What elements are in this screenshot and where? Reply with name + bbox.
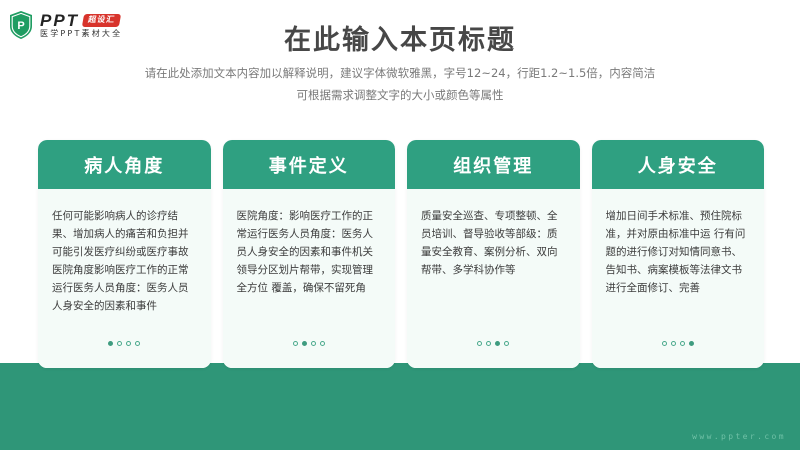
subtitle-line-1: 请在此处添加文本内容加以解释说明，建议字体微软雅黑，字号12~24，行距1.2~… [0, 62, 800, 84]
card-1-text: 任何可能影响病人的诊疗结果、增加病人的痛苦和负担并可能引发医疗纠纷或医疗事故医院… [52, 207, 197, 315]
card-4-text: 增加日间手术标准、预住院标准，并对原由标准中运 行有问题的进行修订对知情同意书、… [606, 207, 751, 297]
card-1-header: 病人角度 [38, 140, 211, 189]
card-3-header: 组织管理 [407, 140, 580, 189]
card-4-dots [592, 341, 765, 346]
card-3-dots [407, 341, 580, 346]
dot-indicator[interactable] [680, 341, 685, 346]
dot-indicator[interactable] [504, 341, 509, 346]
footer-green-band: www.ppter.com [0, 363, 800, 450]
dot-indicator[interactable] [689, 341, 694, 346]
card-4-title: 人身安全 [638, 152, 718, 178]
card-1[interactable]: 病人角度 任何可能影响病人的诊疗结果、增加病人的痛苦和负担并可能引发医疗纠纷或医… [38, 140, 211, 368]
card-2-header: 事件定义 [223, 140, 396, 189]
card-list: 病人角度 任何可能影响病人的诊疗结果、增加病人的痛苦和负担并可能引发医疗纠纷或医… [38, 140, 764, 368]
card-2-dots [223, 341, 396, 346]
dot-indicator[interactable] [108, 341, 113, 346]
card-4-body: 增加日间手术标准、预住院标准，并对原由标准中运 行有问题的进行修订对知情同意书、… [592, 189, 765, 368]
dot-indicator[interactable] [126, 341, 131, 346]
watermark-text: www.ppter.com [692, 432, 786, 441]
card-4-header: 人身安全 [592, 140, 765, 189]
dot-indicator[interactable] [662, 341, 667, 346]
card-2-title: 事件定义 [269, 152, 349, 178]
card-1-dots [38, 341, 211, 346]
page-subtitle: 请在此处添加文本内容加以解释说明，建议字体微软雅黑，字号12~24，行距1.2~… [0, 62, 800, 106]
dot-indicator[interactable] [302, 341, 307, 346]
card-4[interactable]: 人身安全 增加日间手术标准、预住院标准，并对原由标准中运 行有问题的进行修订对知… [592, 140, 765, 368]
dot-indicator[interactable] [320, 341, 325, 346]
card-2-body: 医院角度：影响医疗工作的正常运行医务人员角度：医务人员人身安全的因素和事件机关领… [223, 189, 396, 368]
dot-indicator[interactable] [311, 341, 316, 346]
card-2[interactable]: 事件定义 医院角度：影响医疗工作的正常运行医务人员角度：医务人员人身安全的因素和… [223, 140, 396, 368]
card-3-body: 质量安全巡查、专项整顿、全员培训、督导验收等部级：质量安全教育、案例分析、双向帮… [407, 189, 580, 368]
card-3-title: 组织管理 [453, 152, 533, 178]
card-3[interactable]: 组织管理 质量安全巡查、专项整顿、全员培训、督导验收等部级：质量安全教育、案例分… [407, 140, 580, 368]
page-title: 在此输入本页标题 [0, 18, 800, 57]
card-3-text: 质量安全巡查、专项整顿、全员培训、督导验收等部级：质量安全教育、案例分析、双向帮… [421, 207, 566, 279]
dot-indicator[interactable] [495, 341, 500, 346]
dot-indicator[interactable] [486, 341, 491, 346]
card-1-body: 任何可能影响病人的诊疗结果、增加病人的痛苦和负担并可能引发医疗纠纷或医疗事故医院… [38, 189, 211, 368]
subtitle-line-2: 可根据需求调整文字的大小或颜色等属性 [0, 84, 800, 106]
card-2-text: 医院角度：影响医疗工作的正常运行医务人员角度：医务人员人身安全的因素和事件机关领… [237, 207, 382, 297]
dot-indicator[interactable] [477, 341, 482, 346]
dot-indicator[interactable] [117, 341, 122, 346]
card-1-title: 病人角度 [84, 152, 164, 178]
dot-indicator[interactable] [293, 341, 298, 346]
dot-indicator[interactable] [135, 341, 140, 346]
dot-indicator[interactable] [671, 341, 676, 346]
